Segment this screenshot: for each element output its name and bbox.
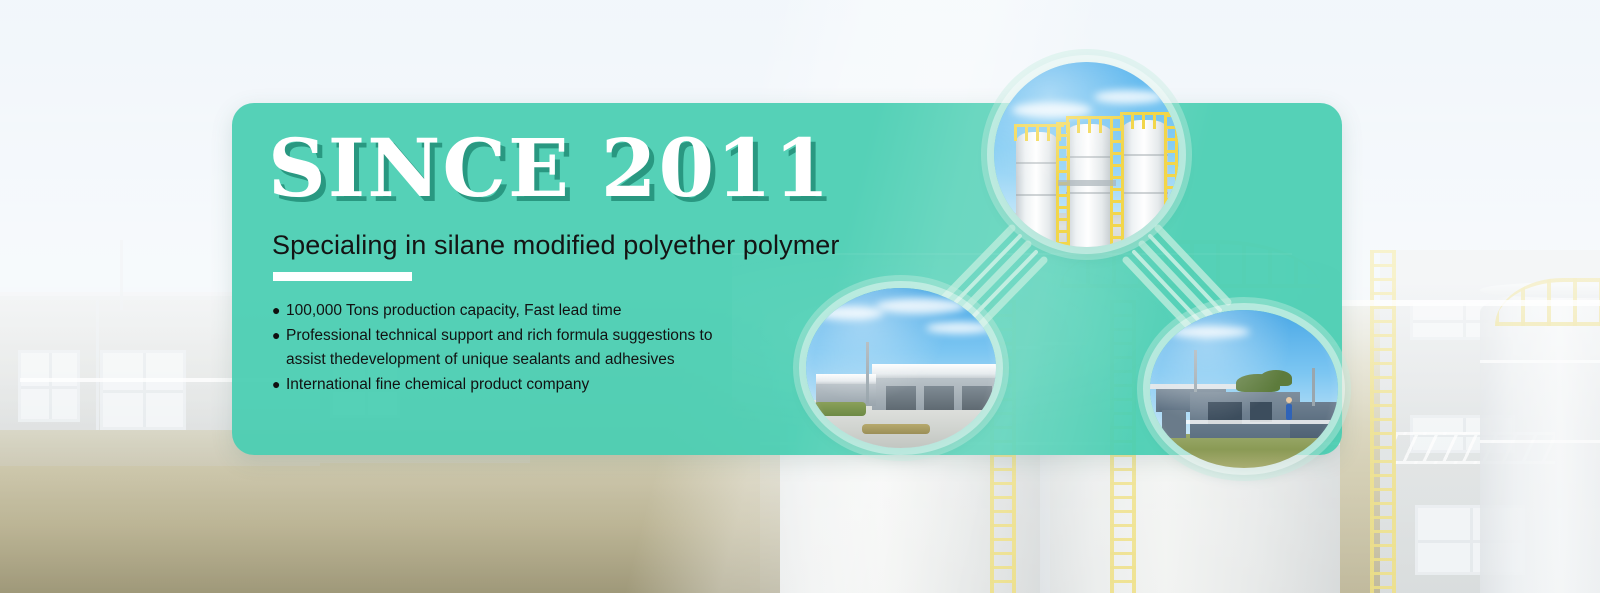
bullet-marker: ● [272,372,286,396]
list-item: ●Professional technical support and rich… [272,323,832,348]
bullet-marker: ● [272,298,286,322]
bubble-gloss [1150,310,1338,468]
list-item: ●100,000 Tons production capacity, Fast … [272,298,832,323]
bubble-gloss [994,62,1179,247]
list-item: ●International fine chemical product com… [272,372,832,397]
title-underline-rule [273,272,412,281]
list-item-continuation: assist thedevelopment of unique sealants… [272,348,832,372]
company-hero-banner: SINCE 2011 Specialing in silane modified… [0,0,1600,593]
page-title: SINCE 2011 [268,128,831,208]
bullet-marker: ● [272,323,286,347]
feature-bullet-list: ●100,000 Tons production capacity, Fast … [272,298,832,397]
bubble-gloss [806,288,996,448]
list-item-label: Professional technical support and rich … [286,327,713,344]
warehouse-facility-photo[interactable] [806,288,996,448]
storage-tank-farm-photo[interactable] [994,62,1179,247]
plant-building-photo[interactable] [1150,310,1338,468]
list-item-label: 100,000 Tons production capacity, Fast l… [286,302,621,319]
list-item-label: International fine chemical product comp… [286,376,589,393]
subtitle: Specialing in silane modified polyether … [272,230,840,261]
